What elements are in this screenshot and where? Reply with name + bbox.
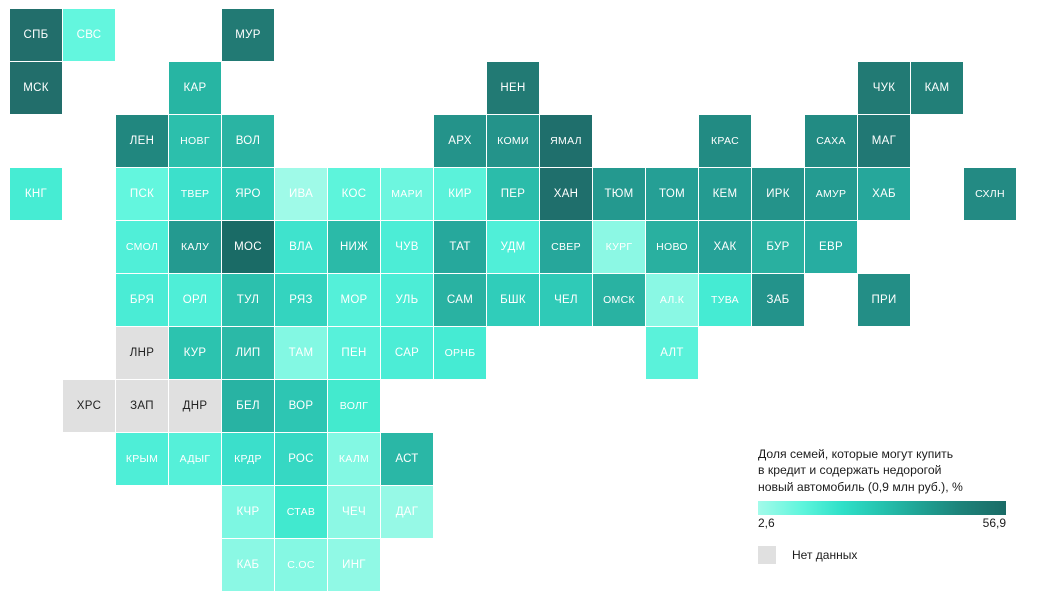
region-tile-label: КНГ — [25, 188, 47, 200]
legend-title-line-1: Доля семей, которые могут купить — [758, 446, 1006, 462]
region-tile-label: АЛТ — [660, 347, 683, 359]
region-tile-label: МУР — [235, 29, 260, 41]
region-tile-ТЮМ[interactable]: ТЮМ — [593, 168, 645, 220]
region-tile-label: ВОЛ — [236, 135, 261, 147]
region-tile-label: НЕН — [500, 82, 525, 94]
region-tile-label: СХЛН — [975, 188, 1005, 200]
region-tile-label: СВЕР — [551, 241, 581, 253]
region-tile-label: КОМИ — [497, 135, 529, 147]
region-tile-БУР[interactable]: БУР — [752, 221, 804, 273]
nodata-swatch-icon — [758, 546, 776, 564]
region-tile-НЕН[interactable]: НЕН — [487, 62, 539, 114]
region-tile-label: МСК — [23, 82, 48, 94]
region-tile-label: УЛЬ — [396, 294, 419, 306]
region-tile-label: ХАК — [714, 241, 737, 253]
region-tile-label: КАЛУ — [181, 241, 209, 253]
region-tile-УДМ[interactable]: УДМ — [487, 221, 539, 273]
legend-gradient-bar — [758, 501, 1006, 515]
region-tile-label: АМУР — [816, 188, 847, 200]
region-tile-ТУВА[interactable]: ТУВА — [699, 274, 751, 326]
region-tile-label: КОС — [342, 188, 367, 200]
legend-scale-max: 56,9 — [983, 516, 1006, 530]
region-tile-label: ЗАП — [130, 400, 154, 412]
legend-scale-min: 2,6 — [758, 516, 775, 530]
region-tile-label: ДНР — [183, 400, 208, 412]
region-tile-label: КЕМ — [713, 188, 738, 200]
region-tile-КНГ[interactable]: КНГ — [10, 168, 62, 220]
region-tile-СВС[interactable]: СВС — [63, 9, 115, 61]
region-tile-label: ИНГ — [342, 559, 366, 571]
region-tile-label: ХРС — [77, 400, 101, 412]
region-tile-label: СПБ — [23, 29, 48, 41]
region-tile-БШК[interactable]: БШК — [487, 274, 539, 326]
region-tile-label: НОВГ — [180, 135, 210, 147]
region-tile-ОРЛ[interactable]: ОРЛ — [169, 274, 221, 326]
region-tile-label: АЛ.К — [660, 294, 684, 306]
region-tile-label: ЯРО — [235, 188, 261, 200]
region-tile-ЧУК[interactable]: ЧУК — [858, 62, 910, 114]
region-tile-label: ЧУК — [873, 82, 896, 94]
region-tile-label: БШК — [500, 294, 526, 306]
region-tile-КАР[interactable]: КАР — [169, 62, 221, 114]
region-tile-label: КРЫМ — [126, 453, 158, 465]
region-tile-СВЕР[interactable]: СВЕР — [540, 221, 592, 273]
region-tile-label: БУР — [766, 241, 789, 253]
region-tile-label: ПЕР — [501, 188, 526, 200]
region-tile-ЕВР[interactable]: ЕВР — [805, 221, 857, 273]
region-tile-label: ЗАБ — [766, 294, 789, 306]
region-tile-СТАВ[interactable]: СТАВ — [275, 486, 327, 538]
region-tile-label: ИВА — [289, 188, 313, 200]
region-tile-ПРИ[interactable]: ПРИ — [858, 274, 910, 326]
region-tile-ЯМАЛ[interactable]: ЯМАЛ — [540, 115, 592, 167]
region-tile-КУР[interactable]: КУР — [169, 327, 221, 379]
region-tile-КАМ[interactable]: КАМ — [911, 62, 963, 114]
region-tile-label: ЧЕЧ — [342, 506, 366, 518]
region-tile-КОС[interactable]: КОС — [328, 168, 380, 220]
region-tile-label: ЕВР — [819, 241, 843, 253]
region-tile-КАЛМ[interactable]: КАЛМ — [328, 433, 380, 485]
region-tile-САР[interactable]: САР — [381, 327, 433, 379]
legend-nodata-label: Нет данных — [792, 548, 857, 562]
legend-title-line-3: новый автомобиль (0,9 млн руб.), % — [758, 479, 1006, 495]
region-tile-label: ЯМАЛ — [550, 135, 582, 147]
region-tile-label: КУР — [184, 347, 207, 359]
region-tile-БЕЛ[interactable]: БЕЛ — [222, 380, 274, 432]
legend-title: Доля семей, которые могут купить в креди… — [758, 446, 1006, 495]
region-tile-label: САХА — [816, 135, 846, 147]
region-tile-АЛ.К[interactable]: АЛ.К — [646, 274, 698, 326]
region-tile-label: МОР — [340, 294, 367, 306]
region-tile-label: ВОР — [289, 400, 314, 412]
region-tile-ЛЕН[interactable]: ЛЕН — [116, 115, 168, 167]
region-tile-label: ТАТ — [449, 241, 470, 253]
region-tile-СХЛН[interactable]: СХЛН — [964, 168, 1016, 220]
region-tile-РЯЗ[interactable]: РЯЗ — [275, 274, 327, 326]
region-tile-label: ПСК — [130, 188, 154, 200]
region-tile-КИР[interactable]: КИР — [434, 168, 486, 220]
region-tile-label: БЕЛ — [236, 400, 260, 412]
region-tile-label: ХАН — [554, 188, 579, 200]
region-tile-ХАБ[interactable]: ХАБ — [858, 168, 910, 220]
region-tile-ПЕН[interactable]: ПЕН — [328, 327, 380, 379]
region-tile-С.ОС[interactable]: С.ОС — [275, 539, 327, 591]
region-tile-label: НОВО — [656, 241, 688, 253]
region-tile-label: ОРНБ — [445, 347, 476, 359]
region-tile-label: КИР — [448, 188, 472, 200]
region-tile-label: ЛЕН — [130, 135, 154, 147]
region-tile-МСК[interactable]: МСК — [10, 62, 62, 114]
region-tile-ЛНР[interactable]: ЛНР — [116, 327, 168, 379]
region-tile-label: САМ — [447, 294, 473, 306]
region-tile-ХАН[interactable]: ХАН — [540, 168, 592, 220]
region-tile-label: ЛИП — [236, 347, 261, 359]
legend-scale-row: 2,6 56,9 — [758, 516, 1006, 532]
region-tile-label: ИРК — [766, 188, 790, 200]
region-tile-label: ВОЛГ — [340, 400, 368, 412]
region-tile-ЧЕЧ[interactable]: ЧЕЧ — [328, 486, 380, 538]
region-tile-МОС[interactable]: МОС — [222, 221, 274, 273]
legend: Доля семей, которые могут купить в креди… — [758, 446, 1008, 564]
region-tile-ВОЛГ[interactable]: ВОЛГ — [328, 380, 380, 432]
region-tile-КРДР[interactable]: КРДР — [222, 433, 274, 485]
region-tile-ЗАП[interactable]: ЗАП — [116, 380, 168, 432]
region-tile-ИНГ[interactable]: ИНГ — [328, 539, 380, 591]
region-tile-НИЖ[interactable]: НИЖ — [328, 221, 380, 273]
region-tile-label: КАР — [184, 82, 207, 94]
region-tile-ИРК[interactable]: ИРК — [752, 168, 804, 220]
region-tile-label: С.ОС — [287, 559, 314, 571]
region-tile-КРЫМ[interactable]: КРЫМ — [116, 433, 168, 485]
region-tile-КАЛУ[interactable]: КАЛУ — [169, 221, 221, 273]
region-tile-label: СТАВ — [287, 506, 316, 518]
region-tile-label: АДЫГ — [180, 453, 211, 465]
region-tile-ТУЛ[interactable]: ТУЛ — [222, 274, 274, 326]
region-tile-label: ДАГ — [396, 506, 419, 518]
region-tile-label: ТАМ — [289, 347, 314, 359]
region-tile-label: ТУВА — [711, 294, 739, 306]
region-tile-label: ХАБ — [872, 188, 896, 200]
region-tile-ЛИП[interactable]: ЛИП — [222, 327, 274, 379]
region-tile-label: МОС — [234, 241, 262, 253]
region-tile-КРАС[interactable]: КРАС — [699, 115, 751, 167]
region-tile-АЛТ[interactable]: АЛТ — [646, 327, 698, 379]
region-tile-label: ПЕН — [341, 347, 366, 359]
region-tile-label: ТЮМ — [604, 188, 633, 200]
legend-title-line-2: в кредит и содержать недорогой — [758, 462, 1006, 478]
region-tile-label: КРДР — [234, 453, 262, 465]
region-tile-label: ЧУВ — [395, 241, 419, 253]
region-tile-ВОЛ[interactable]: ВОЛ — [222, 115, 274, 167]
region-tile-label: РОС — [288, 453, 314, 465]
region-tile-ОМСК[interactable]: ОМСК — [593, 274, 645, 326]
region-tile-АСТ[interactable]: АСТ — [381, 433, 433, 485]
region-tile-ТВЕР[interactable]: ТВЕР — [169, 168, 221, 220]
region-tile-ТАМ[interactable]: ТАМ — [275, 327, 327, 379]
region-tile-КЕМ[interactable]: КЕМ — [699, 168, 751, 220]
region-tile-ЧЕЛ[interactable]: ЧЕЛ — [540, 274, 592, 326]
region-tile-label: КЧР — [237, 506, 260, 518]
region-tile-ЯРО[interactable]: ЯРО — [222, 168, 274, 220]
region-tile-ПЕР[interactable]: ПЕР — [487, 168, 539, 220]
region-tile-МОР[interactable]: МОР — [328, 274, 380, 326]
region-tile-label: АСТ — [395, 453, 418, 465]
region-tile-label: ЧЕЛ — [554, 294, 578, 306]
region-tile-label: МАГ — [872, 135, 896, 147]
region-tile-label: МАРИ — [391, 188, 423, 200]
region-tile-label: ПРИ — [871, 294, 896, 306]
region-tile-КАБ[interactable]: КАБ — [222, 539, 274, 591]
region-tile-РОС[interactable]: РОС — [275, 433, 327, 485]
region-tile-label: НИЖ — [340, 241, 368, 253]
region-tile-ЧУВ[interactable]: ЧУВ — [381, 221, 433, 273]
region-tile-label: ТУЛ — [237, 294, 259, 306]
region-tile-КОМИ[interactable]: КОМИ — [487, 115, 539, 167]
region-tile-ИВА[interactable]: ИВА — [275, 168, 327, 220]
region-tile-ВЛА[interactable]: ВЛА — [275, 221, 327, 273]
region-tile-label: СМОЛ — [126, 241, 158, 253]
region-tile-ХРС[interactable]: ХРС — [63, 380, 115, 432]
region-tile-label: ЛНР — [130, 347, 154, 359]
region-tile-label: ВЛА — [289, 241, 313, 253]
legend-nodata-row: Нет данных — [758, 546, 1008, 564]
region-tile-label: САР — [395, 347, 419, 359]
region-tile-ВОР[interactable]: ВОР — [275, 380, 327, 432]
region-tile-label: КРАС — [711, 135, 739, 147]
region-tile-label: УДМ — [500, 241, 525, 253]
region-tile-ТОМ[interactable]: ТОМ — [646, 168, 698, 220]
region-tile-АРХ[interactable]: АРХ — [434, 115, 486, 167]
region-tile-label: АРХ — [448, 135, 471, 147]
region-tile-label: ОРЛ — [183, 294, 207, 306]
region-tile-САХА[interactable]: САХА — [805, 115, 857, 167]
region-tile-НОВО[interactable]: НОВО — [646, 221, 698, 273]
region-tile-label: КАБ — [237, 559, 260, 571]
region-tile-МАРИ[interactable]: МАРИ — [381, 168, 433, 220]
region-tile-ДАГ[interactable]: ДАГ — [381, 486, 433, 538]
region-tile-label: КАЛМ — [339, 453, 369, 465]
region-tile-label: ТОМ — [659, 188, 685, 200]
region-tile-ПСК[interactable]: ПСК — [116, 168, 168, 220]
region-tile-label: ТВЕР — [181, 188, 210, 200]
region-tile-ХАК[interactable]: ХАК — [699, 221, 751, 273]
region-tile-АМУР[interactable]: АМУР — [805, 168, 857, 220]
region-tile-АДЫГ[interactable]: АДЫГ — [169, 433, 221, 485]
region-tile-КУРГ[interactable]: КУРГ — [593, 221, 645, 273]
region-tile-ТАТ[interactable]: ТАТ — [434, 221, 486, 273]
region-tile-СПБ[interactable]: СПБ — [10, 9, 62, 61]
region-tile-НОВГ[interactable]: НОВГ — [169, 115, 221, 167]
region-tile-САМ[interactable]: САМ — [434, 274, 486, 326]
region-tile-label: ОМСК — [603, 294, 635, 306]
region-tile-label: КАМ — [925, 82, 950, 94]
region-tile-ДНР[interactable]: ДНР — [169, 380, 221, 432]
region-tile-БРЯ[interactable]: БРЯ — [116, 274, 168, 326]
region-tile-МУР[interactable]: МУР — [222, 9, 274, 61]
region-tile-УЛЬ[interactable]: УЛЬ — [381, 274, 433, 326]
region-tile-label: БРЯ — [130, 294, 154, 306]
region-tile-ОРНБ[interactable]: ОРНБ — [434, 327, 486, 379]
region-tile-label: РЯЗ — [289, 294, 313, 306]
region-tile-МАГ[interactable]: МАГ — [858, 115, 910, 167]
region-tile-label: СВС — [77, 29, 102, 41]
region-tile-КЧР[interactable]: КЧР — [222, 486, 274, 538]
region-tile-ЗАБ[interactable]: ЗАБ — [752, 274, 804, 326]
region-tile-СМОЛ[interactable]: СМОЛ — [116, 221, 168, 273]
region-tile-label: КУРГ — [606, 241, 633, 253]
